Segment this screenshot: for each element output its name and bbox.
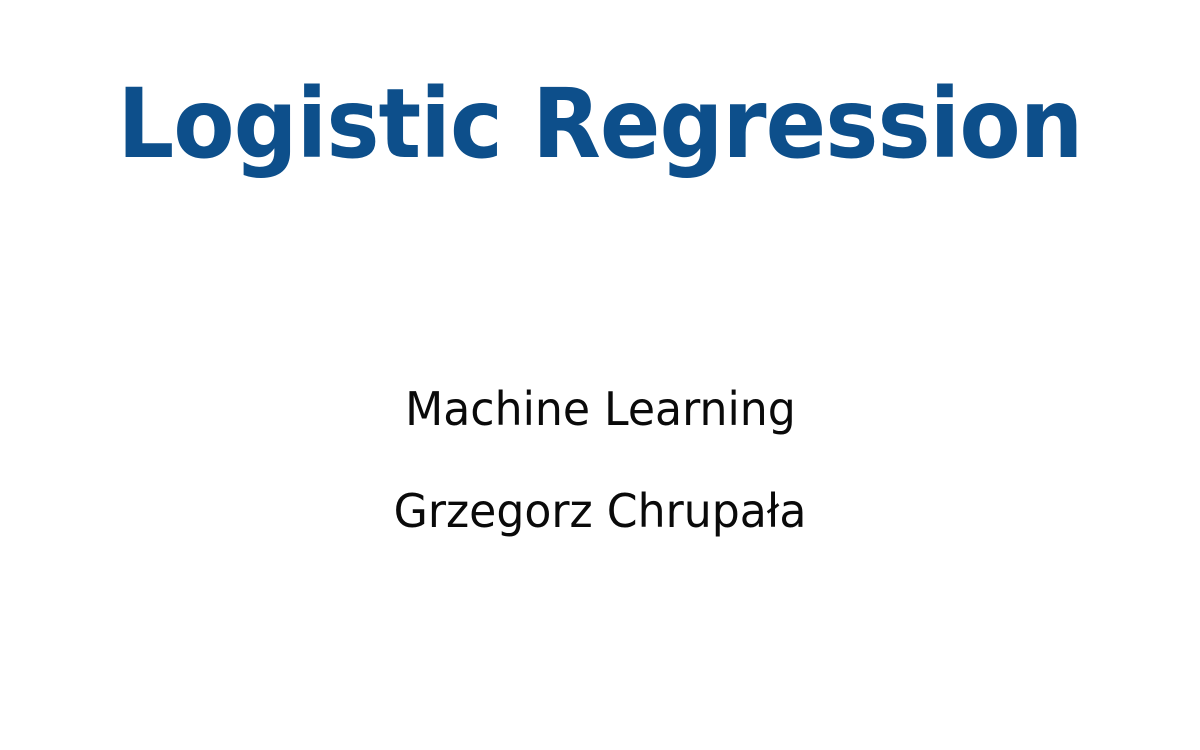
title-block: Logistic Regression bbox=[0, 0, 1200, 230]
page-title: Logistic Regression bbox=[117, 76, 1082, 172]
presentation-title-slide: Logistic Regression Machine Learning Grz… bbox=[0, 0, 1200, 750]
subtitle-block: Machine Learning Grzegorz Chrupała bbox=[0, 386, 1200, 534]
course-name: Machine Learning bbox=[405, 386, 796, 432]
author-name: Grzegorz Chrupała bbox=[394, 488, 807, 534]
